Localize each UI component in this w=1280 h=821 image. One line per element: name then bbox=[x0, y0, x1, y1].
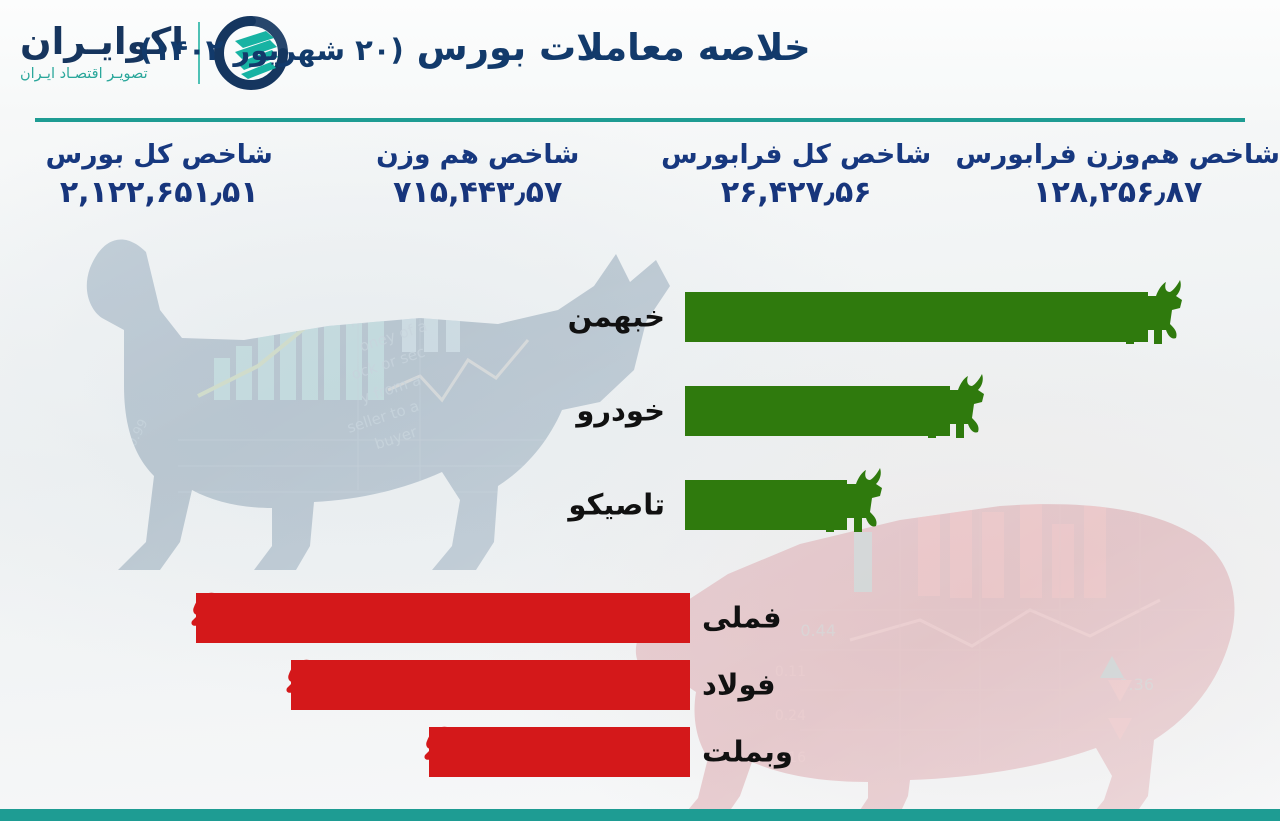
stat-label: شاخص کل فرابورس bbox=[637, 140, 955, 170]
page-title-date: (۲۰ شهریور ۱۴۰۲) bbox=[139, 33, 403, 67]
page-title-text: خلاصه معاملات بورس bbox=[417, 26, 811, 69]
stat-card-total-index: شاخص کل بورس ۲,۱۲۲,۶۵۱٫۵۱ bbox=[0, 140, 318, 240]
index-stats-row: شاخص کل بورس ۲,۱۲۲,۶۵۱٫۵۱ شاخص هم وزن ۷۱… bbox=[0, 140, 1280, 240]
bar-label: فولاد bbox=[702, 671, 776, 700]
page-header: اکوایـران تصویـر اقتصـاد ایـران خلاصه مع… bbox=[0, 0, 1280, 120]
stat-label: شاخص هم وزن bbox=[318, 140, 636, 170]
bull-icon bbox=[1100, 274, 1186, 360]
header-divider-rule bbox=[35, 118, 1245, 122]
bar-row[interactable]: خبهمن bbox=[0, 288, 1280, 346]
bear-icon bbox=[281, 642, 367, 728]
footer-accent-bar bbox=[0, 809, 1280, 821]
stat-label: شاخص هم‌وزن فرابورس bbox=[955, 140, 1280, 170]
bar-label: وبملت bbox=[702, 738, 793, 767]
stat-card-equal-weight-index: شاخص هم وزن ۷۱۵,۴۴۳٫۵۷ bbox=[318, 140, 636, 240]
stat-value: ۷۱۵,۴۴۳٫۵۷ bbox=[318, 175, 636, 210]
stat-card-farabourse-index: شاخص کل فرابورس ۲۶,۴۲۷٫۵۶ bbox=[637, 140, 955, 240]
bar-label: تاصیکو bbox=[568, 491, 665, 520]
gainer-bar-0[interactable] bbox=[685, 292, 1148, 342]
bar-row[interactable]: تاصیکو bbox=[0, 476, 1280, 534]
stat-label: شاخص کل بورس bbox=[0, 140, 318, 170]
bar-row[interactable]: وبملت bbox=[0, 723, 1280, 781]
bull-icon bbox=[800, 462, 886, 548]
page-title: خلاصه معاملات بورس (۲۰ شهریور ۱۴۰۲) bbox=[139, 26, 810, 69]
bear-icon bbox=[419, 709, 505, 795]
bar-row[interactable]: خودرو bbox=[0, 382, 1280, 440]
bar-label: خودرو bbox=[576, 397, 665, 426]
bar-row[interactable]: فملی bbox=[0, 589, 1280, 647]
bar-label: خبهمن bbox=[568, 303, 665, 332]
stat-value: ۲,۱۲۲,۶۵۱٫۵۱ bbox=[0, 175, 318, 210]
infographic-canvas: Fish markets mea he transfer oney of a o… bbox=[0, 0, 1280, 821]
stat-value: ۱۲۸,۲۵۶٫۸۷ bbox=[955, 175, 1280, 210]
bull-icon bbox=[902, 368, 988, 454]
bar-row[interactable]: فولاد bbox=[0, 656, 1280, 714]
impact-bar-chart: خبهمن خودرو تاصیکو فملی bbox=[0, 0, 1280, 821]
bear-icon bbox=[186, 575, 272, 661]
title-container: خلاصه معاملات بورس (۲۰ شهریور ۱۴۰۲) bbox=[0, 26, 1280, 69]
bar-label: فملی bbox=[702, 604, 782, 633]
stat-value: ۲۶,۴۲۷٫۵۶ bbox=[637, 175, 955, 210]
stat-card-farabourse-equal-weight-index: شاخص هم‌وزن فرابورس ۱۲۸,۲۵۶٫۸۷ bbox=[955, 140, 1280, 240]
